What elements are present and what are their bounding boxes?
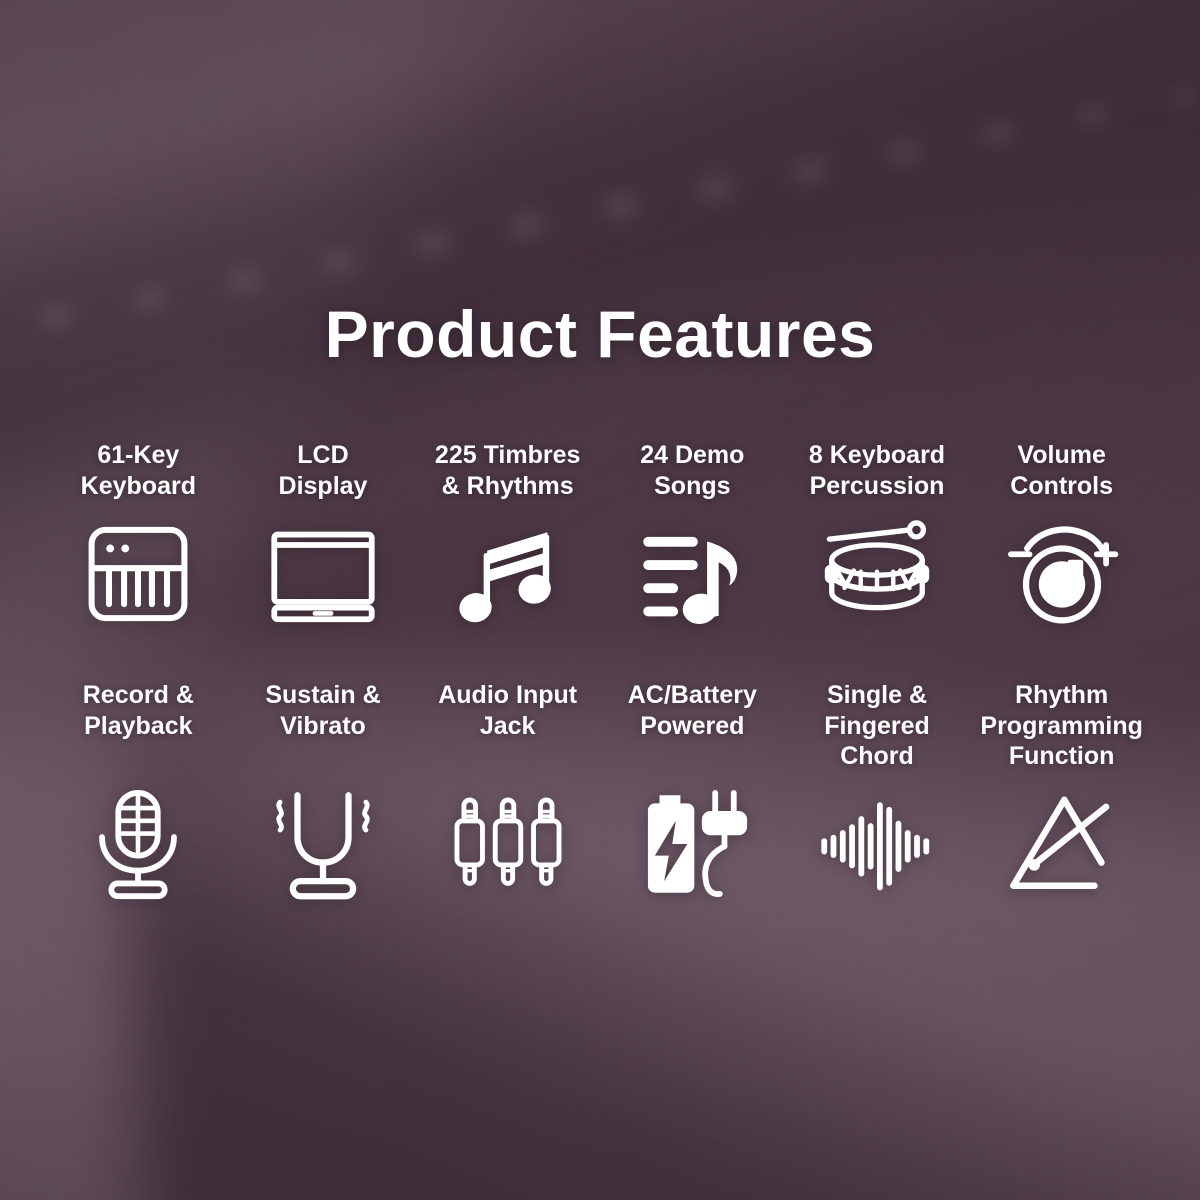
- feature-item-record-playback: Record & Playback: [46, 680, 231, 902]
- feature-item-volume-controls: Volume Controls: [969, 440, 1154, 632]
- poster-content: Product Features 61-Key Keyboard: [0, 0, 1200, 1200]
- waveform-icon: [819, 786, 935, 902]
- feature-label: 24 Demo Songs: [640, 440, 744, 502]
- feature-item-timbres-rhythms: 225 Timbres & Rhythms: [415, 440, 600, 632]
- microphone-icon: [80, 786, 196, 902]
- battery-plug-icon: [634, 786, 750, 902]
- feature-label: Volume Controls: [1010, 440, 1113, 502]
- features-grid: 61-Key Keyboard LCD: [46, 440, 1154, 902]
- feature-label: Audio Input Jack: [438, 680, 577, 772]
- snare-drum-icon: [819, 516, 935, 632]
- feature-label: Record & Playback: [83, 680, 194, 772]
- feature-label: 225 Timbres & Rhythms: [435, 440, 580, 502]
- music-notes-icon: [450, 516, 566, 632]
- feature-label: Rhythm Programming Function: [980, 680, 1143, 772]
- feature-item-keyboard-percussion: 8 Keyboard Percussion: [785, 440, 970, 632]
- feature-label: 8 Keyboard Percussion: [809, 440, 945, 502]
- feature-item-audio-input-jack: Audio Input Jack: [415, 680, 600, 902]
- feature-item-keyboard: 61-Key Keyboard: [46, 440, 231, 632]
- feature-item-rhythm-programming: Rhythm Programming Function: [969, 680, 1154, 902]
- feature-label: Single & Fingered Chord: [824, 680, 930, 772]
- volume-knob-icon: [1004, 516, 1120, 632]
- lcd-display-icon: [265, 516, 381, 632]
- playlist-note-icon: [634, 516, 750, 632]
- tuning-fork-icon: [265, 786, 381, 902]
- page-title: Product Features: [0, 296, 1200, 372]
- feature-label: AC/Battery Powered: [628, 680, 757, 772]
- feature-label: Sustain & Vibrato: [265, 680, 380, 772]
- audio-jack-icon: [450, 786, 566, 902]
- feature-item-single-fingered-chord: Single & Fingered Chord: [785, 680, 970, 902]
- keyboard-icon: [80, 516, 196, 632]
- product-features-poster: Product Features 61-Key Keyboard: [0, 0, 1200, 1200]
- feature-label: 61-Key Keyboard: [81, 440, 196, 502]
- triangle-instrument-icon: [1004, 786, 1120, 902]
- feature-label: LCD Display: [279, 440, 368, 502]
- feature-item-ac-battery-powered: AC/Battery Powered: [600, 680, 785, 902]
- feature-item-demo-songs: 24 Demo Songs: [600, 440, 785, 632]
- feature-item-lcd-display: LCD Display: [231, 440, 416, 632]
- feature-item-sustain-vibrato: Sustain & Vibrato: [231, 680, 416, 902]
